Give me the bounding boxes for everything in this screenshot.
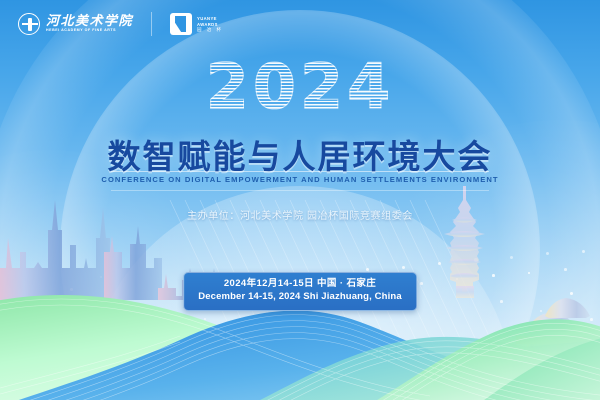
chinese-pagoda — [444, 186, 485, 298]
organizer-line: 主办单位：河北美术学院 园冶杯国际竞赛组委会 — [0, 207, 600, 222]
year-wrapper: 2024 — [0, 56, 600, 118]
logo-divider — [151, 12, 152, 36]
date-badge-en: December 14-15, 2024 Shi Jiazhuang, Chin… — [198, 291, 402, 304]
logo-yuanye-en-1: YUANYE — [197, 16, 223, 21]
date-badge: 2024年12月14-15日 中国 · 石家庄 December 14-15, … — [183, 272, 417, 311]
logo-yuanye-cn: 园 冶 杯 — [197, 28, 223, 33]
academy-seal-icon — [18, 13, 40, 35]
title-rule-bottom — [111, 190, 489, 191]
logo-hebei-academy[interactable]: 河北美术学院 HEBEI ACADEMY OF FINE ARTS — [18, 13, 133, 35]
date-badge-cn: 2024年12月14-15日 中国 · 石家庄 — [198, 278, 402, 291]
page-subtitle: CONFERENCE ON DIGITAL EMPOWERMENT AND HU… — [0, 175, 600, 184]
yuanye-mark-icon — [170, 13, 192, 35]
logo-yuanye-awards[interactable]: YUANYE AWARDS 园 冶 杯 — [170, 13, 223, 35]
page-title: 数智赋能与人居环境大会 — [0, 130, 600, 178]
header-logos: 河北美术学院 HEBEI ACADEMY OF FINE ARTS YUANYE… — [18, 12, 223, 36]
logo-hebei-academy-en: HEBEI ACADEMY OF FINE ARTS — [46, 29, 133, 33]
logo-hebei-academy-cn: 河北美术学院 — [46, 15, 133, 28]
year-2024: 2024 — [206, 56, 395, 118]
conference-poster: 河北美术学院 HEBEI ACADEMY OF FINE ARTS YUANYE… — [0, 0, 600, 400]
